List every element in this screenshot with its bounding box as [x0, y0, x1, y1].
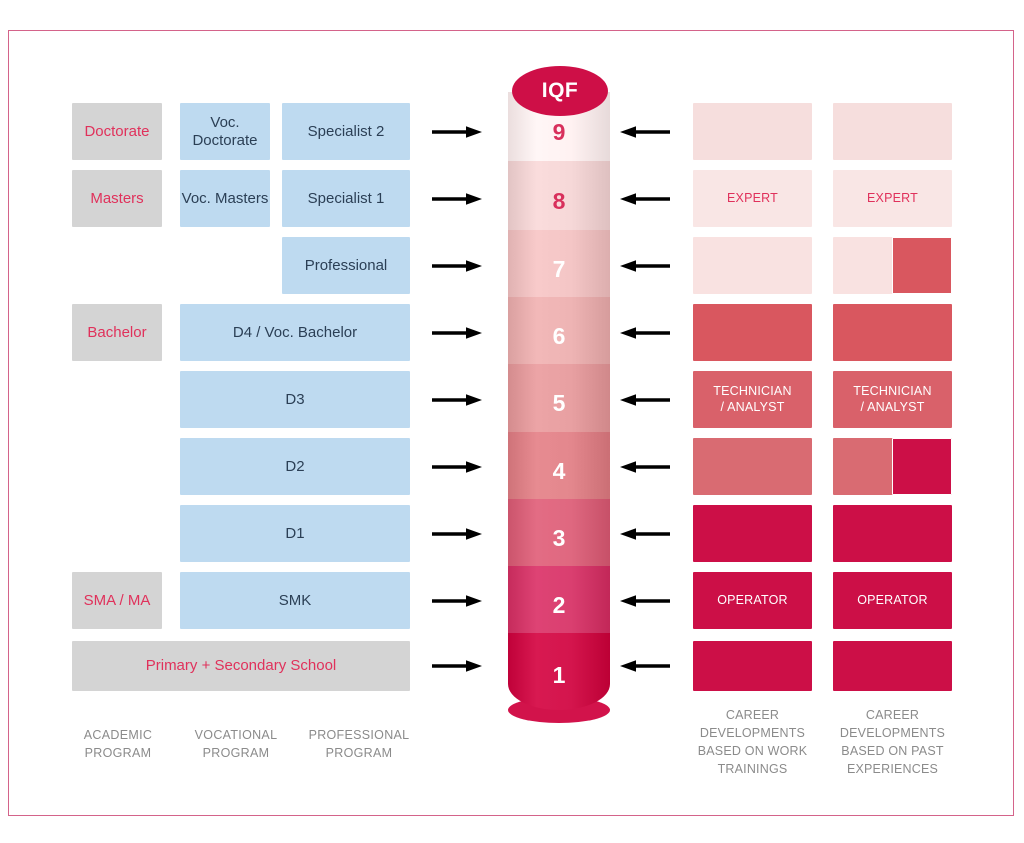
program-caption-professional: PROFESSIONAL PROGRAM — [294, 726, 424, 762]
arrow-left-level-7 — [620, 258, 670, 279]
career-cell-work-trainings-level-9 — [693, 103, 812, 160]
iqf-title-label: IQF — [542, 79, 579, 103]
career-cell-past-experiences-level-5: TECHNICIAN / ANALYST — [833, 371, 952, 428]
education-box-academic-9: Doctorate — [72, 103, 162, 160]
career-cell-past-experiences-level-9 — [833, 103, 952, 160]
iqf-level-number: 8 — [553, 188, 566, 215]
arrow-right-level-1 — [432, 658, 482, 679]
career-cell-past-experiences-level-2: OPERATOR — [833, 572, 952, 629]
education-box-vocational-2: SMK — [180, 572, 410, 629]
education-box-academic-8: Masters — [72, 170, 162, 227]
arrow-left-level-8 — [620, 191, 670, 212]
iqf-level-number: 7 — [553, 256, 566, 283]
career-cell-work-trainings-level-4 — [693, 438, 812, 495]
career-caption-past-experiences: CAREER DEVELOPMENTS BASED ON PAST EXPERI… — [815, 706, 970, 779]
career-cell-work-trainings-level-6 — [693, 304, 812, 361]
career-cell-split-past-experiences-level-4 — [892, 438, 952, 495]
education-box-professional-7: Professional — [282, 237, 410, 294]
arrow-left-level-9 — [620, 124, 670, 145]
education-box-vocational-3: D1 — [180, 505, 410, 562]
arrow-left-level-2 — [620, 593, 670, 614]
iqf-level-number: 2 — [553, 592, 566, 619]
career-cell-work-trainings-level-1 — [693, 641, 812, 691]
career-cell-past-experiences-level-1 — [833, 641, 952, 691]
career-cell-work-trainings-level-3 — [693, 505, 812, 562]
career-cell-split-past-experiences-level-7 — [892, 237, 952, 294]
education-box-vocational-5: D3 — [180, 371, 410, 428]
iqf-segment-level-1: 1 — [508, 633, 610, 710]
program-caption-academic: ACADEMIC PROGRAM — [68, 726, 168, 762]
career-cell-work-trainings-level-7 — [693, 237, 812, 294]
education-box-vocational-8: Voc. Masters — [180, 170, 270, 227]
arrow-right-level-8 — [432, 191, 482, 212]
program-caption-vocational: VOCATIONAL PROGRAM — [180, 726, 292, 762]
iqf-level-number: 3 — [553, 525, 566, 552]
education-box-academic-2: SMA / MA — [72, 572, 162, 629]
arrow-left-level-4 — [620, 459, 670, 480]
career-cell-work-trainings-level-2: OPERATOR — [693, 572, 812, 629]
iqf-cylinder: 987654321 — [508, 92, 610, 710]
iqf-title-cap: IQF — [512, 66, 608, 116]
arrow-right-level-3 — [432, 526, 482, 547]
career-cell-past-experiences-level-3 — [833, 505, 952, 562]
education-box-professional-8: Specialist 1 — [282, 170, 410, 227]
education-box-school: Primary + Secondary School — [72, 641, 410, 691]
arrow-right-level-5 — [432, 392, 482, 413]
iqf-level-number: 1 — [553, 662, 566, 689]
arrow-right-level-7 — [432, 258, 482, 279]
education-box-vocational-6: D4 / Voc. Bachelor — [180, 304, 410, 361]
career-cell-work-trainings-level-8: EXPERT — [693, 170, 812, 227]
arrow-right-level-9 — [432, 124, 482, 145]
career-cell-past-experiences-level-8: EXPERT — [833, 170, 952, 227]
career-cell-past-experiences-level-6 — [833, 304, 952, 361]
arrow-right-level-4 — [432, 459, 482, 480]
education-box-vocational-9: Voc. Doctorate — [180, 103, 270, 160]
arrow-left-level-6 — [620, 325, 670, 346]
iqf-level-number: 6 — [553, 323, 566, 350]
career-caption-work-trainings: CAREER DEVELOPMENTS BASED ON WORK TRAINI… — [675, 706, 830, 779]
arrow-right-level-2 — [432, 593, 482, 614]
arrow-right-level-6 — [432, 325, 482, 346]
career-cell-work-trainings-level-5: TECHNICIAN / ANALYST — [693, 371, 812, 428]
education-box-academic-6: Bachelor — [72, 304, 162, 361]
iqf-level-number: 5 — [553, 390, 566, 417]
education-box-vocational-4: D2 — [180, 438, 410, 495]
education-box-professional-9: Specialist 2 — [282, 103, 410, 160]
arrow-left-level-3 — [620, 526, 670, 547]
iqf-level-number: 4 — [553, 458, 566, 485]
arrow-left-level-5 — [620, 392, 670, 413]
iqf-level-number: 9 — [553, 119, 566, 146]
arrow-left-level-1 — [620, 658, 670, 679]
diagram-stage: DoctorateVoc. DoctorateSpecialist 2Maste… — [0, 0, 1024, 843]
